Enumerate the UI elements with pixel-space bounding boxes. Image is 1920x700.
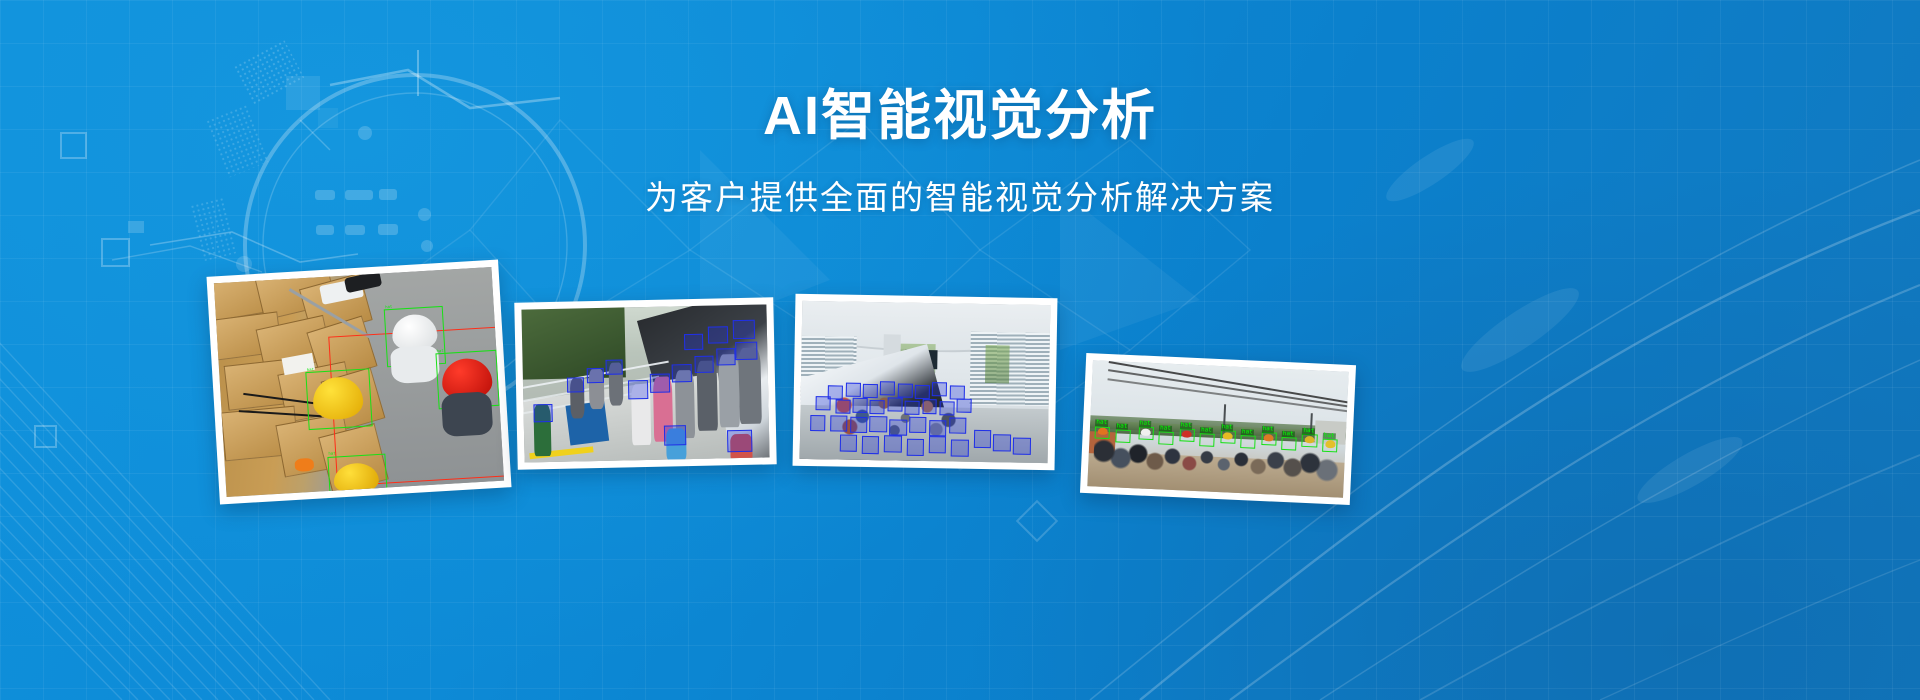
person-detection-box xyxy=(929,436,947,454)
person-detection-box xyxy=(929,420,947,436)
person-detection-box xyxy=(839,434,857,452)
photo-walkway-crowd-detection xyxy=(521,304,769,462)
greenery xyxy=(985,345,1010,383)
helmet-detection-box xyxy=(1240,435,1256,448)
person-detection-box xyxy=(909,416,927,432)
detection-label: hat xyxy=(1323,432,1336,439)
person-detection-box xyxy=(664,425,686,445)
person-detection-box xyxy=(1013,437,1031,455)
person-detection-box xyxy=(884,435,902,453)
detection-label: hat xyxy=(1139,420,1152,427)
person-detection-box xyxy=(586,368,603,384)
person-detection-box xyxy=(567,377,584,393)
person-detection-box xyxy=(905,401,920,415)
person-detection-box xyxy=(815,396,830,410)
person-detection-box xyxy=(949,417,967,433)
person-detection-box xyxy=(533,404,553,423)
person-detection-box xyxy=(727,430,752,452)
person-detection-box xyxy=(863,384,878,398)
gallery-photo-card[interactable]: hat hat hat hat hat hat hat hat hat hat xyxy=(1080,353,1356,505)
person-detection-box xyxy=(887,397,902,411)
louvre-wall xyxy=(969,332,1050,406)
person-detection-box xyxy=(650,374,670,393)
person-detection-box xyxy=(932,382,947,396)
helmet-detection-box xyxy=(1115,429,1131,442)
person-detection-box xyxy=(951,439,969,457)
person-detection-box xyxy=(628,380,648,399)
person-detection-box xyxy=(835,399,850,413)
detection-label: hat xyxy=(1282,431,1295,438)
person-detection-box xyxy=(906,439,924,457)
detection-label: hat xyxy=(1200,427,1213,434)
person-detection-box xyxy=(708,327,728,344)
detection-label: hat xyxy=(385,305,392,309)
person-detection-box xyxy=(672,364,692,383)
person-detection-box xyxy=(993,434,1011,452)
detection-label: hat xyxy=(1261,426,1274,433)
photo-platform-crowd-detection xyxy=(800,301,1051,463)
detection-label: hat xyxy=(307,368,314,372)
person-detection-box xyxy=(732,320,754,339)
person-detection-box xyxy=(897,383,912,397)
person-detection-box xyxy=(830,415,848,431)
person-detection-box xyxy=(957,398,972,412)
person-detection-box xyxy=(850,417,868,433)
gallery-photo-card[interactable]: hat hat hat hat xyxy=(206,260,511,505)
person-body xyxy=(440,391,492,437)
yellow-helmet xyxy=(1325,440,1336,448)
ai-vision-hero-banner: AI智能视觉分析 为客户提供全面的智能视觉分析解决方案 xyxy=(0,0,1920,700)
detection-label: hat xyxy=(1159,425,1172,432)
person-detection-box xyxy=(973,430,991,448)
yellow-helmet xyxy=(1304,435,1315,443)
person-detection-box xyxy=(735,341,757,360)
person-detection-box xyxy=(870,400,885,414)
person-detection-box xyxy=(716,348,736,365)
person-detection-box xyxy=(915,385,930,399)
detection-label: hat xyxy=(1302,428,1315,435)
detection-label: hat xyxy=(328,452,335,456)
person-body xyxy=(390,345,439,384)
hero-text-block: AI智能视觉分析 为客户提供全面的智能视觉分析解决方案 xyxy=(0,88,1920,219)
helmet-detection-box xyxy=(1158,431,1174,444)
person-detection-box xyxy=(880,381,895,395)
person-detection-box xyxy=(922,399,937,413)
person-detection-box xyxy=(845,382,860,396)
detection-label: hat xyxy=(1095,420,1108,427)
detection-label: hat xyxy=(1241,429,1254,436)
gallery-photo-card[interactable] xyxy=(514,297,776,469)
person-detection-box xyxy=(606,359,623,375)
page-title: AI智能视觉分析 xyxy=(0,88,1920,145)
person-detection-box xyxy=(684,333,704,350)
detection-label: hat xyxy=(1115,423,1128,430)
orange-tool xyxy=(294,458,314,472)
photo-warehouse-helmet-detection: hat hat hat hat xyxy=(214,267,504,497)
orange-helmet xyxy=(1097,427,1108,435)
helmet-detection-box xyxy=(1281,437,1297,450)
person-detection-box xyxy=(810,415,825,431)
photo-outdoor-group-helmet-detection: hat hat hat hat hat hat hat hat hat hat xyxy=(1087,360,1348,497)
person-detection-box xyxy=(889,419,907,435)
helmet-detection-box xyxy=(1199,433,1215,446)
detection-label: hat xyxy=(1220,424,1233,431)
person-detection-box xyxy=(870,416,888,432)
person-detection-box xyxy=(862,436,880,454)
person-silhouette xyxy=(718,354,739,428)
person-detection-box xyxy=(694,356,714,373)
gallery-photo-card[interactable] xyxy=(793,294,1058,471)
person-detection-box xyxy=(939,401,954,415)
detection-label: hat xyxy=(1180,422,1193,429)
person-detection-box xyxy=(853,398,868,412)
detection-label: hat xyxy=(436,349,443,353)
page-subtitle: 为客户提供全面的智能视觉分析解决方案 xyxy=(0,171,1920,219)
